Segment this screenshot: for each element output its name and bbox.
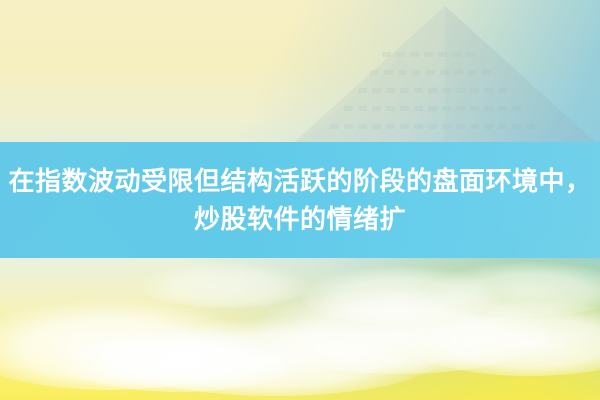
headline-line-2: 炒股软件的情绪扩 [194,200,406,238]
sky-blue-tint [70,330,310,386]
banner-image: 在指数波动受限但结构活跃的阶段的盘面环境中， 炒股软件的情绪扩 [0,0,600,400]
headline-line-1: 在指数波动受限但结构活跃的阶段的盘面环境中， [8,162,591,200]
city-skyline-icon [270,0,600,146]
headline-band: 在指数波动受限但结构活跃的阶段的盘面环境中， 炒股软件的情绪扩 [0,142,600,258]
